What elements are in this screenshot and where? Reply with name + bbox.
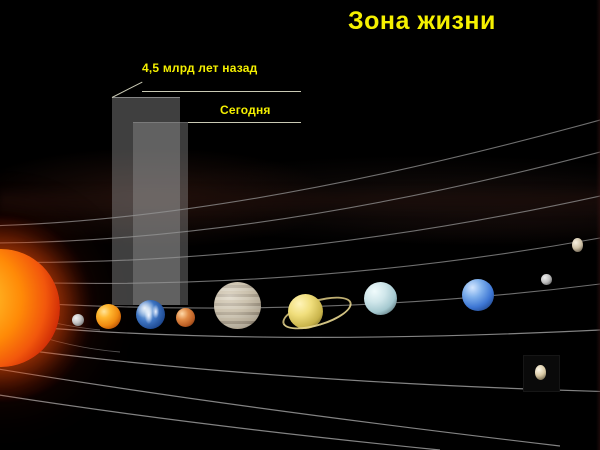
planet-pluto [572, 238, 583, 252]
habitable-zone-bar-today-top [133, 122, 188, 123]
right-edge-vignette [596, 0, 600, 450]
planet-neptune [462, 279, 494, 311]
slide-title: Зона жизни [348, 7, 496, 36]
habitable-zone-bar-today [133, 122, 188, 305]
leader-line-past [142, 91, 301, 92]
planet-jupiter [214, 282, 261, 329]
planet-eris [535, 365, 546, 380]
slide-canvas: 4,5 млрд лет назад Сегодня Зона жизни [0, 0, 600, 450]
habitable-zone-bar-past-top [112, 97, 180, 98]
orbit-lines [0, 0, 600, 450]
label-today: Сегодня [220, 103, 271, 117]
planet-mars [176, 308, 195, 327]
planet-earth [136, 300, 165, 329]
planet-mercury [72, 314, 84, 326]
planet-venus [96, 304, 121, 329]
label-past: 4,5 млрд лет назад [142, 61, 257, 75]
leader-line-today [188, 122, 301, 123]
planet-charon [541, 274, 552, 285]
planet-uranus [364, 282, 397, 315]
